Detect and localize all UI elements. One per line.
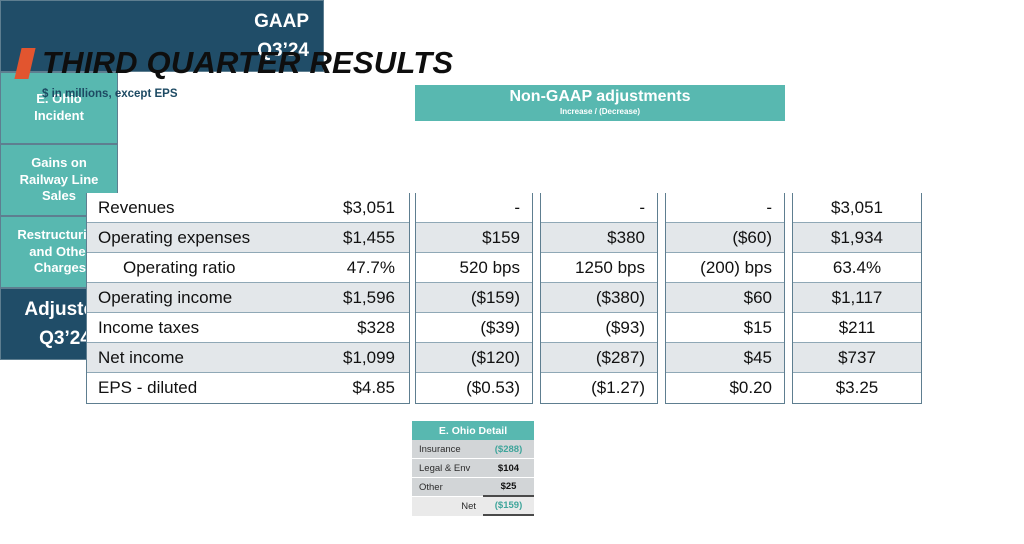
cell-eohio-value: - xyxy=(416,193,532,223)
page-title: THIRD QUARTER RESULTS xyxy=(42,45,453,81)
detail-row-value: ($288) xyxy=(483,440,534,459)
accent-mark-icon xyxy=(14,48,35,79)
cell-gaap-value: $4.85 xyxy=(352,378,395,398)
cell-adjusted-value: $737 xyxy=(793,343,921,373)
cell-restructuring-value: $60 xyxy=(666,283,784,313)
cell-gaap-value: 47.7% xyxy=(347,258,395,278)
table-row: Income taxes$328 xyxy=(87,313,409,343)
cell-gaap-value: $3,051 xyxy=(343,198,395,218)
table-row: Operating income$1,596 xyxy=(87,283,409,313)
detail-row: Legal & Env$104 xyxy=(412,459,534,478)
cell-adjusted-value: $211 xyxy=(793,313,921,343)
non-gaap-banner-title: Non-GAAP adjustments xyxy=(509,89,690,106)
cell-gains-value: $380 xyxy=(541,223,657,253)
cell-adjusted-value: $3,051 xyxy=(793,193,921,223)
cell-gaap-value: $1,099 xyxy=(343,348,395,368)
cell-restructuring-value: $45 xyxy=(666,343,784,373)
detail-row-label: Legal & Env xyxy=(412,459,483,478)
column-body-restructuring-and-other-charges: -($60)(200) bps$60$15$45$0.20 xyxy=(665,193,785,404)
cell-gaap-value: $1,596 xyxy=(343,288,395,308)
non-gaap-adjustments-banner: Non-GAAP adjustments Increase / (Decreas… xyxy=(415,85,785,121)
column-header-restructuring-line3: Charges xyxy=(34,260,86,277)
cell-eohio-value: $159 xyxy=(416,223,532,253)
cell-gaap-value: $1,455 xyxy=(343,228,395,248)
title-block: THIRD QUARTER RESULTS $ in millions, exc… xyxy=(18,45,453,100)
cell-gains-value: ($1.27) xyxy=(541,373,657,403)
table-row: Net income$1,099 xyxy=(87,343,409,373)
detail-row-value: $25 xyxy=(483,478,534,497)
cell-gains-value: - xyxy=(541,193,657,223)
cell-restructuring-value: $0.20 xyxy=(666,373,784,403)
cell-eohio-value: ($39) xyxy=(416,313,532,343)
cell-eohio-value: ($120) xyxy=(416,343,532,373)
detail-row-label: Other xyxy=(412,478,483,497)
cell-restructuring-value: $15 xyxy=(666,313,784,343)
row-label: Revenues xyxy=(98,198,175,218)
column-header-gains-line1: Gains on xyxy=(31,155,87,172)
page-subtitle: $ in millions, except EPS xyxy=(42,88,453,100)
column-header-adjusted-line2: Q3’24 xyxy=(39,324,91,353)
column-body-gains-on-railway-line-sales: -$3801250 bps($380)($93)($287)($1.27) xyxy=(540,193,658,404)
detail-row-label: Net xyxy=(412,497,483,516)
table-row: EPS - diluted$4.85 xyxy=(87,373,409,403)
detail-row-value: ($159) xyxy=(483,497,534,516)
row-label: Operating income xyxy=(98,288,232,308)
e-ohio-detail-table: E. Ohio Detail Insurance($288)Legal & En… xyxy=(412,421,534,516)
row-label: Net income xyxy=(98,348,184,368)
detail-row: Other$25 xyxy=(412,478,534,497)
non-gaap-banner-subtitle: Increase / (Decrease) xyxy=(560,107,640,117)
cell-gaap-value: $328 xyxy=(357,318,395,338)
e-ohio-detail-title: E. Ohio Detail xyxy=(412,421,534,440)
column-body-e-ohio-incident: -$159520 bps($159)($39)($120)($0.53) xyxy=(415,193,533,404)
cell-eohio-value: ($0.53) xyxy=(416,373,532,403)
detail-row-value: $104 xyxy=(483,459,534,478)
cell-gains-value: ($93) xyxy=(541,313,657,343)
cell-adjusted-value: $3.25 xyxy=(793,373,921,403)
cell-gains-value: ($380) xyxy=(541,283,657,313)
table-row: Operating ratio47.7% xyxy=(87,253,409,283)
column-header-gaap-line1: GAAP xyxy=(254,7,309,36)
cell-restructuring-value: ($60) xyxy=(666,223,784,253)
cell-eohio-value: 520 bps xyxy=(416,253,532,283)
table-row: Revenues$3,051 xyxy=(87,193,409,223)
cell-restructuring-value: (200) bps xyxy=(666,253,784,283)
row-label: Income taxes xyxy=(98,318,199,338)
title-row: THIRD QUARTER RESULTS xyxy=(18,45,453,81)
row-label: Operating expenses xyxy=(98,228,250,248)
column-header-restructuring-line2: and Other xyxy=(29,244,90,261)
column-header-gains-line2: Railway Line xyxy=(20,172,99,189)
row-label: Operating ratio xyxy=(98,258,235,278)
column-header-eohio-line2: Incident xyxy=(34,108,84,125)
cell-gains-value: 1250 bps xyxy=(541,253,657,283)
cell-adjusted-value: 63.4% xyxy=(793,253,921,283)
cell-adjusted-value: $1,934 xyxy=(793,223,921,253)
detail-row: Net($159) xyxy=(412,497,534,516)
cell-eohio-value: ($159) xyxy=(416,283,532,313)
cell-adjusted-value: $1,117 xyxy=(793,283,921,313)
row-label: EPS - diluted xyxy=(98,378,197,398)
detail-row: Insurance($288) xyxy=(412,440,534,459)
cell-gains-value: ($287) xyxy=(541,343,657,373)
column-body-labels-and-gaap: Revenues$3,051Operating expenses$1,455Op… xyxy=(86,193,410,404)
column-header-gains-line3: Sales xyxy=(42,188,76,205)
table-row: Operating expenses$1,455 xyxy=(87,223,409,253)
detail-row-label: Insurance xyxy=(412,440,483,459)
cell-restructuring-value: - xyxy=(666,193,784,223)
column-body-adjusted: $3,051$1,93463.4%$1,117$211$737$3.25 xyxy=(792,193,922,404)
